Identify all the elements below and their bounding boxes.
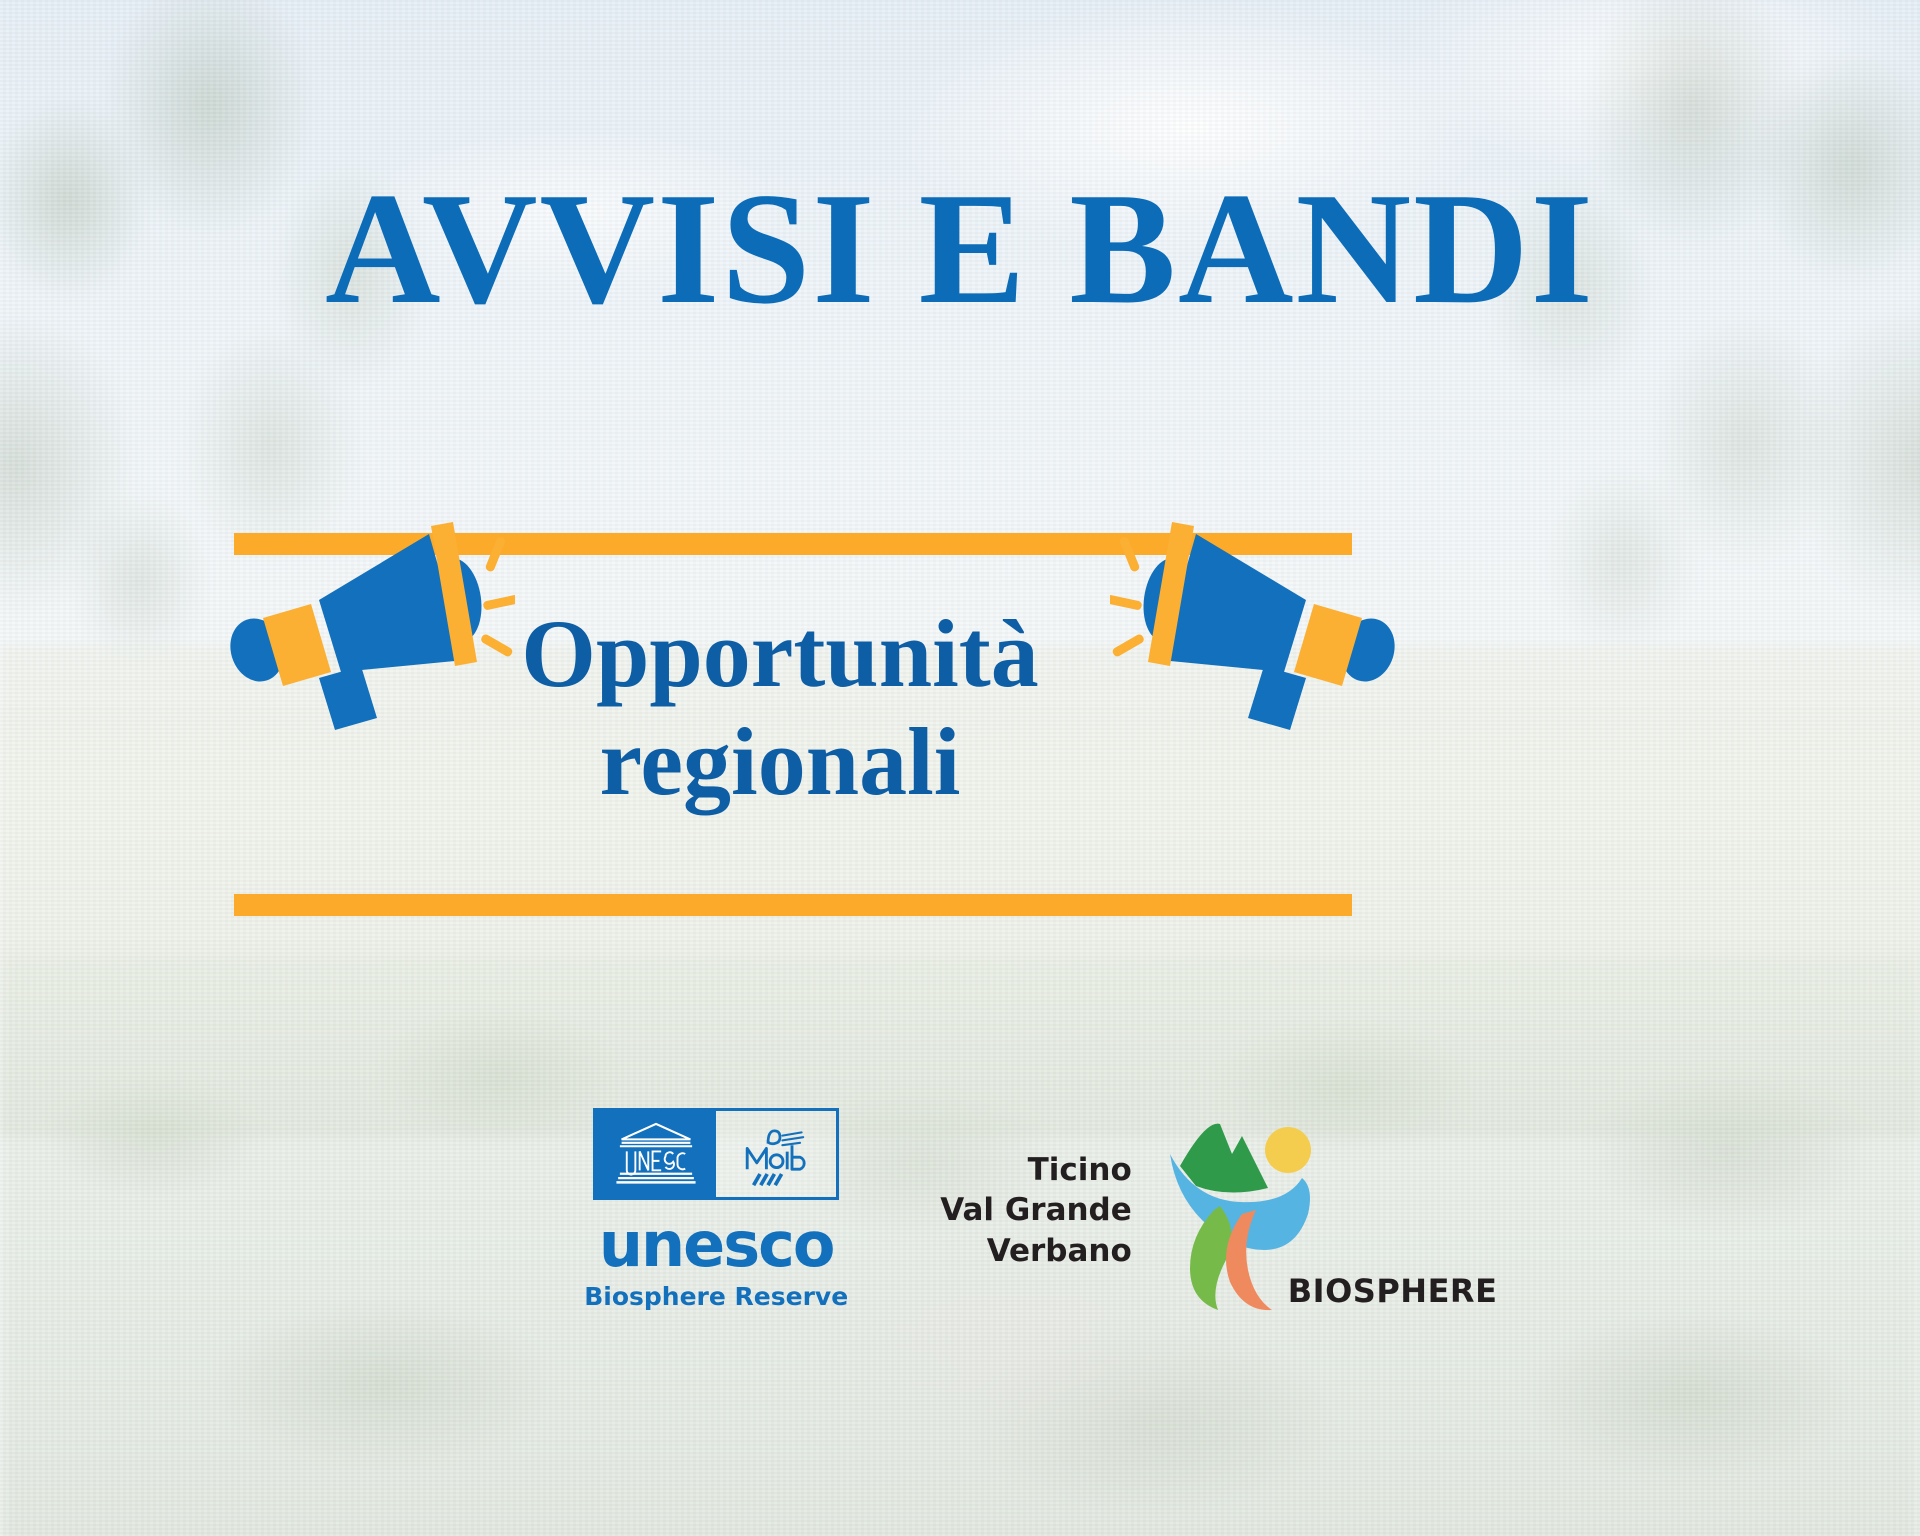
poster-content: AVVISI E BANDI xyxy=(0,0,1920,1536)
ticino-wordmark: Ticino Val Grande Verbano xyxy=(940,1114,1132,1271)
divider-rule-bottom xyxy=(234,894,1352,916)
ticino-biosphere-label: BIOSPHERE xyxy=(1288,1272,1498,1310)
page-title: AVVISI E BANDI xyxy=(0,168,1920,328)
ticino-line-2: Val Grande xyxy=(940,1190,1132,1230)
ticino-line-3: Verbano xyxy=(940,1231,1132,1271)
unesco-wordmark: unesco xyxy=(599,1214,834,1276)
mab-emblem xyxy=(716,1111,836,1197)
megaphone-icon xyxy=(1110,500,1410,730)
unesco-logo: unesco Biosphere Reserve xyxy=(584,1108,848,1309)
logo-row: unesco Biosphere Reserve Ticino Val Gran… xyxy=(0,1108,1920,1314)
subtitle-line-1: Opportunità xyxy=(430,600,1130,708)
subtitle: Opportunità regionali xyxy=(430,600,1130,815)
unesco-emblem-boxes xyxy=(593,1108,839,1200)
ticino-val-grande-verbano-logo: Ticino Val Grande Verbano xyxy=(940,1114,1336,1314)
ticino-mark-icon: BIOSPHERE xyxy=(1136,1114,1336,1314)
poster: AVVISI E BANDI xyxy=(0,0,1920,1536)
unesco-temple-emblem xyxy=(596,1111,716,1197)
unesco-tagline: Biosphere Reserve xyxy=(584,1284,848,1309)
ticino-line-1: Ticino xyxy=(940,1150,1132,1190)
subtitle-line-2: regionali xyxy=(430,708,1130,816)
